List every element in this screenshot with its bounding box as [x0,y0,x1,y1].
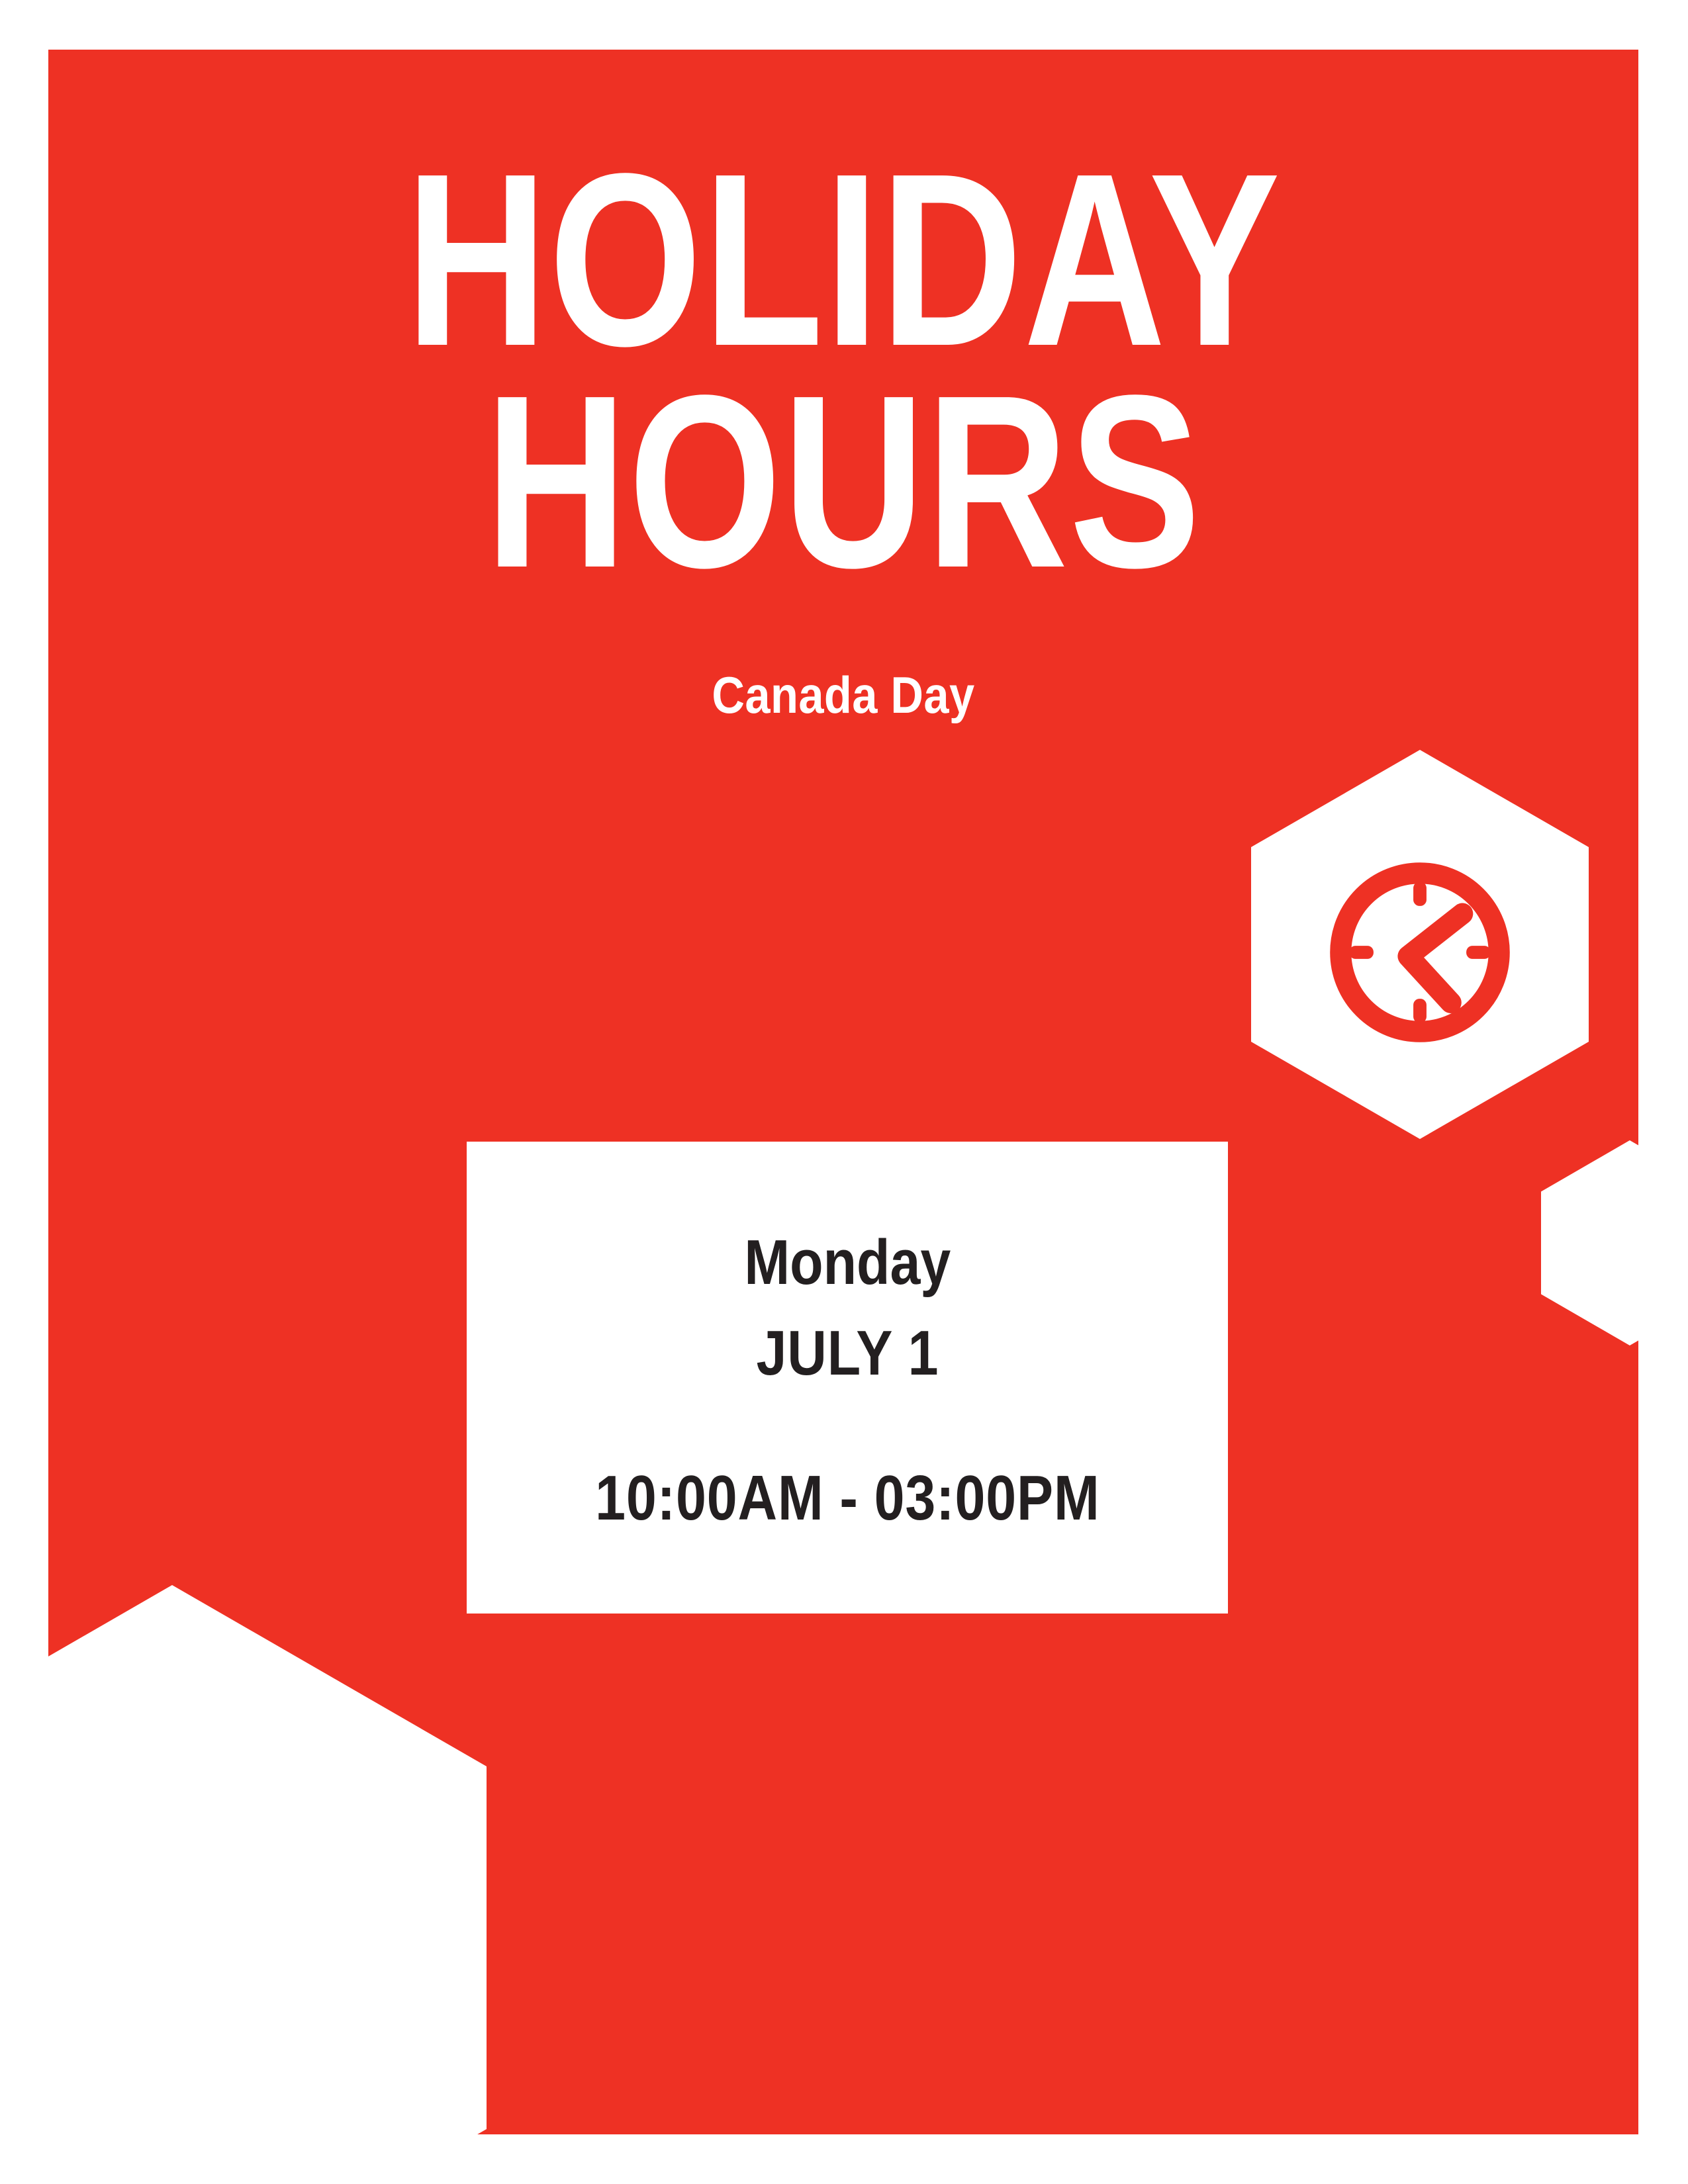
title-line-hours: HOURS [207,371,1479,592]
card-day-label: Monday [744,1230,951,1297]
hours-info-card: Monday JULY 1 10:00AM - 03:00PM [467,1142,1228,1614]
poster-canvas: HOLIDAY HOURS Canada Day Monday JULY 1 1… [0,0,1688,2184]
card-date-label: JULY 1 [756,1320,939,1387]
clock-icon [1323,856,1517,1049]
card-hours-label: 10:00AM - 03:00PM [595,1465,1100,1532]
accent-hexagon-small [1541,1140,1638,1345]
subtitle-canada-day: Canada Day [144,665,1543,725]
accent-hexagon-large [48,1585,487,2134]
red-background-panel: HOLIDAY HOURS Canada Day Monday JULY 1 1… [48,50,1638,2134]
title-line-holiday: HOLIDAY [207,149,1479,371]
page-title: HOLIDAY HOURS [48,149,1638,592]
